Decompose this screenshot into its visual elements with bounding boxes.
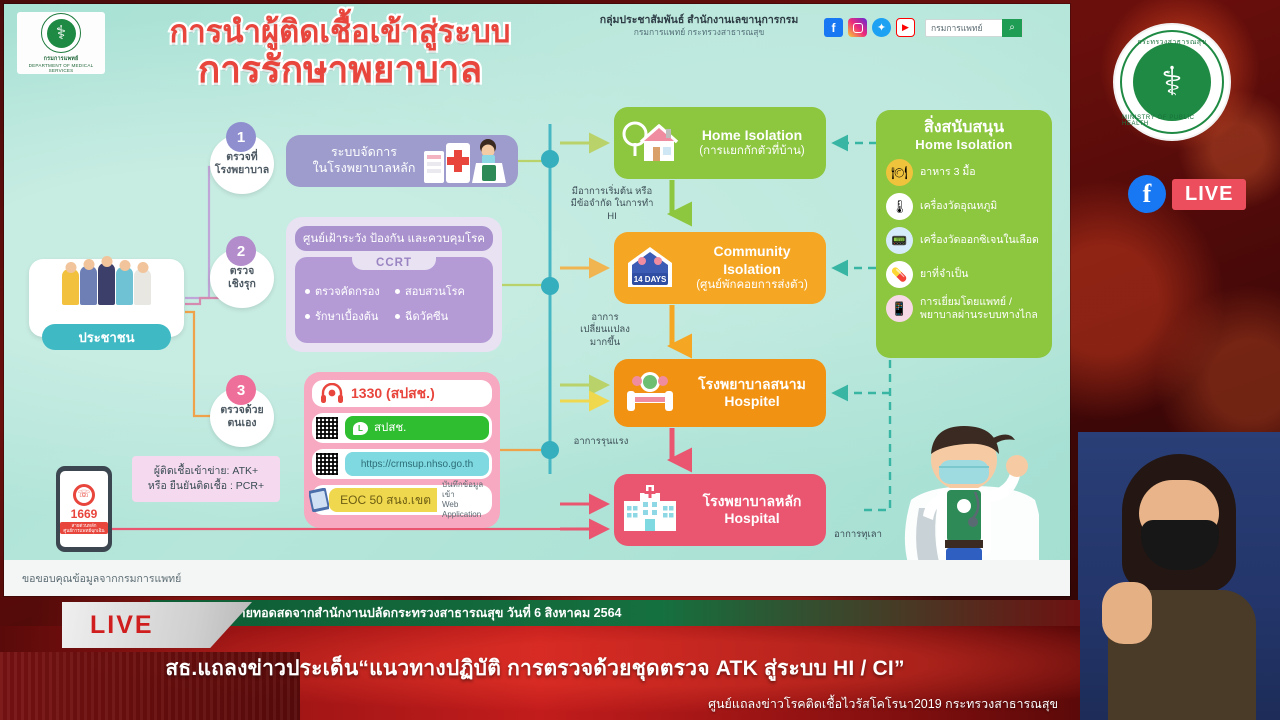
ticker-text: ถ่ายทอดสดจากสำนักงานปลัดกระทรวงสาธารณสุข… — [231, 603, 621, 623]
eoc-label: EOC 50 สนง.เขต — [329, 488, 437, 512]
eoc-note-line1: บันทึกข้อมูลเข้า — [442, 480, 489, 500]
support-title-en: Home Isolation — [886, 137, 1042, 152]
medicine-icon: 💊 — [886, 261, 913, 288]
presentation-slide: ⚕ กรมการแพทย์ DEPARTMENT OF MEDICAL SERV… — [4, 4, 1070, 596]
tablet-icon — [309, 488, 329, 512]
facebook-round-icon: f — [1128, 175, 1166, 213]
moph-emblem-top-text: กระทรวงสาธารณสุข — [1137, 37, 1206, 48]
hotline-number: 1330 (สปสช.) — [351, 383, 435, 405]
ccrt-item: ฉีดวัคซีน — [395, 307, 485, 325]
hospital-building-icon — [614, 485, 686, 535]
department-logo: ⚕ กรมการแพทย์ DEPARTMENT OF MEDICAL SERV… — [17, 12, 105, 74]
atk-criteria-note: ผู้ติดเชื้อเข้าข่าย: ATK+ หรือ ยืนยันติด… — [132, 456, 280, 502]
dms-seal-icon: ⚕ — [41, 13, 81, 53]
destination-hospitel: โรงพยาบาลสนาม Hospitel — [614, 359, 826, 427]
hospital-system-line1: ระบบจัดการ — [300, 145, 428, 161]
hospital-text: โรงพยาบาลหลัก Hospital — [686, 493, 826, 528]
facebook-icon[interactable]: f — [824, 18, 843, 37]
phone-caption: สายด่วนหลัก ศูนย์การแพทย์ฉุกเฉิน — [60, 522, 107, 535]
ticker-bar: ถ่ายทอดสดจากสำนักงานปลัดกระทรวงสาธารณสุข… — [150, 600, 1080, 626]
telemedicine-icon: 📱 — [886, 295, 913, 322]
ccrt-item: รักษาเบื้องต้น — [305, 307, 395, 325]
ccrt-header: ศูนย์เฝ้าระวัง ป้องกัน และควบคุมโรค — [295, 226, 493, 251]
step-3-line2: ตนเอง — [227, 417, 256, 430]
atk-note-line2: หรือ ยืนยันติดเชื้อ : PCR+ — [148, 479, 264, 494]
support-item: 🍽 อาหาร 3 มื้อ — [886, 159, 1042, 186]
community-house-icon: 14 DAYS — [614, 243, 686, 293]
hospitel-title: โรงพยาบาลสนาม — [686, 376, 818, 394]
qr-code-url-icon — [315, 452, 339, 476]
ccrt-body: CCRT ตรวจคัดกรอง สอบสวนโรค รักษาเบื้องต้… — [295, 257, 493, 343]
slide-title-line1: การนำผู้ติดเชื้อเข้าสู่ระบบ — [130, 16, 550, 49]
headset-icon — [320, 383, 344, 405]
community-isolation-text: Community Isolation (ศูนย์พักคอยการส่งตั… — [686, 243, 826, 293]
hotline-row: 1330 (สปสช.) — [312, 380, 492, 407]
ccrt-item: ตรวจคัดกรอง — [305, 282, 395, 300]
hospital-system-line2: ในโรงพยาบาลหลัก — [300, 161, 428, 177]
crm-url[interactable]: https://crmsup.nhso.go.th — [345, 452, 489, 476]
people-node: ประชาชน — [29, 259, 184, 337]
community-isolation-subtitle: (ศูนย์พักคอยการส่งตัว) — [686, 278, 818, 293]
org-line2: กรมการแพทย์ กระทรวงสาธารณสุข — [592, 27, 806, 38]
step-node-3: ตรวจด้วย ตนเอง 3 — [210, 375, 274, 439]
support-item-label: เครื่องวัดออกซิเจนในเลือด — [920, 234, 1039, 247]
slide-title-line2: การรักษาพยาบาล — [130, 50, 550, 89]
support-item: 💊 ยาที่จำเป็น — [886, 261, 1042, 288]
hospital-title: โรงพยาบาลหลัก — [686, 493, 818, 511]
step-2-line1: ตรวจ — [230, 265, 255, 278]
line-label: สปสช. — [374, 419, 406, 437]
support-item: 📱 การเยี่ยมโดยแพทย์ /พยาบาลผ่านระบบทางไก… — [886, 295, 1042, 322]
step-1-number: 1 — [226, 122, 256, 152]
eoc-note: บันทึกข้อมูลเข้า Web Application — [437, 480, 489, 520]
youtube-icon[interactable]: ▶ — [896, 18, 915, 37]
destination-home-isolation: Home Isolation (การแยกกักตัวที่บ้าน) — [614, 107, 826, 179]
home-isolation-text: Home Isolation (การแยกกักตัวที่บ้าน) — [686, 127, 826, 159]
dms-logo-english: DEPARTMENT OF MEDICAL SERVICES — [29, 63, 94, 73]
hospitel-text: โรงพยาบาลสนาม Hospitel — [686, 376, 826, 411]
destination-community-isolation: 14 DAYS Community Isolation (ศูนย์พักคอย… — [614, 232, 826, 304]
flow-label-to-hospitel: อาการ เปลี่ยนแปลง มากขึ้น — [572, 312, 638, 349]
headline-text: สธ.แถลงข่าวประเด็น“แนวทางปฏิบัติ การตรวจ… — [0, 652, 1070, 685]
step-3-line1: ตรวจด้วย — [220, 404, 263, 417]
live-tab-label: LIVE — [90, 611, 154, 640]
people-illustration-icon — [62, 265, 151, 305]
step-1-line2: โรงพยาบาล — [215, 164, 269, 177]
dms-logo-thai: กรมการแพทย์ — [17, 55, 105, 63]
facebook-live-badge: f LIVE — [1128, 175, 1246, 213]
step-2-number: 2 — [226, 236, 256, 266]
caduceus-icon: ⚕ — [1133, 43, 1211, 121]
support-item-label: อาหาร 3 มื้อ — [920, 166, 976, 179]
eoc-note-line2: Web Application — [442, 500, 489, 520]
eoc-row: EOC 50 สนง.เขต บันทึกข้อมูลเข้า Web Appl… — [312, 485, 492, 515]
org-line1: กลุ่มประชาสัมพันธ์ สำนักงานเลขานุการกรม — [592, 14, 806, 27]
phone-caption-line1: สายด่วนหลัก — [72, 523, 97, 528]
step-1-line1: ตรวจที่ — [226, 151, 257, 164]
svg-text:14 DAYS: 14 DAYS — [634, 275, 667, 284]
people-node-label: ประชาชน — [42, 324, 171, 350]
moph-emblem-ring: กระทรวงสาธารณสุข ⚕ MINISTRY OF PUBLIC HE… — [1120, 30, 1224, 134]
slide-canvas: ⚕ กรมการแพทย์ DEPARTMENT OF MEDICAL SERV… — [4, 4, 1070, 596]
phone-headset-icon: ☏ — [73, 484, 95, 506]
hospital-system-box: ระบบจัดการ ในโรงพยาบาลหลัก — [286, 135, 518, 187]
phone-screen: ☏ 1669 สายด่วนหลัก ศูนย์การแพทย์ฉุกเฉิน — [60, 471, 108, 547]
step-node-2: ตรวจ เชิงรุก 2 — [210, 236, 274, 300]
interpreter-signing-hand — [1102, 582, 1152, 644]
hospital-bed-icon — [614, 369, 686, 417]
food-icon: 🍽 — [886, 159, 913, 186]
support-item-label: ยาที่จำเป็น — [920, 268, 968, 281]
step-2-line2: เชิงรุก — [228, 278, 256, 291]
phone-caption-line2: ศูนย์การแพทย์ฉุกเฉิน — [63, 528, 104, 533]
self-test-box: 1330 (สปสช.) L สปสช. https://crmsup.nhso… — [304, 372, 500, 528]
hospital-system-text: ระบบจัดการ ในโรงพยาบาลหลัก — [300, 145, 428, 176]
dms-logo-caption: กรมการแพทย์ DEPARTMENT OF MEDICAL SERVIC… — [17, 55, 105, 73]
url-row: https://crmsup.nhso.go.th — [312, 449, 492, 479]
moph-emblem-bottom-text: MINISTRY OF PUBLIC HEALTH — [1122, 115, 1222, 127]
home-icon — [614, 117, 686, 169]
pharmacy-doctor-icon — [420, 137, 510, 185]
organization-credit: กลุ่มประชาสัมพันธ์ สำนักงานเลขานุการกรม … — [592, 14, 806, 38]
hospital-subtitle: Hospital — [686, 510, 818, 528]
qr-code-line-icon — [315, 416, 339, 440]
search-button[interactable]: ⌕ — [1002, 19, 1022, 37]
support-item: 📟 เครื่องวัดออกซิเจนในเลือด — [886, 227, 1042, 254]
phone-number-1669: 1669 — [71, 507, 98, 521]
hospitel-subtitle: Hospitel — [686, 393, 818, 411]
slide-title: การนำผู้ติดเชื้อเข้าสู่ระบบ การรักษาพยาบ… — [130, 16, 550, 89]
support-item-label: เครื่องวัดอุณหภูมิ — [920, 200, 997, 213]
ccrt-item: สอบสวนโรค — [395, 282, 485, 300]
support-item-label: การเยี่ยมโดยแพทย์ /พยาบาลผ่านระบบทางไกล — [920, 296, 1042, 322]
community-isolation-title: Community Isolation — [686, 243, 818, 278]
step-node-1: ตรวจที่ โรงพยาบาล 1 — [210, 122, 274, 186]
home-isolation-subtitle: (การแยกกักตัวที่บ้าน) — [686, 144, 818, 159]
destination-hospital: โรงพยาบาลหลัก Hospital — [614, 474, 826, 546]
oximeter-icon: 📟 — [886, 227, 913, 254]
fb-live-label: LIVE — [1172, 179, 1246, 210]
broadcast-screen: ⚕ กรมการแพทย์ DEPARTMENT OF MEDICAL SERV… — [0, 0, 1280, 720]
step-3-number: 3 — [226, 375, 256, 405]
sign-language-interpreter-panel — [1078, 432, 1280, 720]
line-app-icon: L — [353, 422, 368, 435]
ccrt-items: ตรวจคัดกรอง สอบสวนโรค รักษาเบื้องต้น ฉีด… — [295, 278, 493, 325]
search-box[interactable]: ⌕ — [925, 19, 1023, 37]
flow-label-to-ci: มีอาการเริ่มต้น หรือมีข้อจำกัด ในการทำ H… — [570, 186, 654, 223]
thermometer-icon: 🌡 — [886, 193, 913, 220]
support-item: 🌡 เครื่องวัดอุณหภูมิ — [886, 193, 1042, 220]
subline-text: ศูนย์แถลงข่าวโรคติดเชื้อไวรัสโคโรนา2019 … — [708, 694, 1058, 714]
ccrt-tag: CCRT — [352, 256, 436, 270]
twitter-icon[interactable]: ✦ — [872, 18, 891, 37]
lower-third: ถ่ายทอดสดจากสำนักงานปลัดกระทรวงสาธารณสุข… — [0, 600, 1080, 720]
line-pill: L สปสช. — [345, 416, 489, 440]
social-links[interactable]: f ✦ ▶ ⌕ — [824, 18, 1023, 37]
support-title-th: สิ่งสนับสนุน — [886, 119, 1042, 137]
search-input[interactable] — [926, 23, 1002, 33]
support-panel: สิ่งสนับสนุน Home Isolation 🍽 อาหาร 3 มื… — [876, 110, 1052, 358]
slide-footer-credit: ขอขอบคุณข้อมูลจากกรมการแพทย์ — [4, 560, 1070, 596]
line-row: L สปสช. — [312, 413, 492, 443]
ccrt-box: ศูนย์เฝ้าระวัง ป้องกัน และควบคุมโรค CCRT… — [286, 217, 502, 352]
atk-note-line1: ผู้ติดเชื้อเข้าข่าย: ATK+ — [154, 464, 258, 479]
moph-emblem: กระทรวงสาธารณสุข ⚕ MINISTRY OF PUBLIC HE… — [1113, 23, 1231, 141]
instagram-icon[interactable] — [848, 18, 867, 37]
emergency-phone-1669: ☏ 1669 สายด่วนหลัก ศูนย์การแพทย์ฉุกเฉิน — [56, 466, 112, 552]
flow-label-to-hospital: อาการรุนแรง — [570, 436, 632, 448]
flow-label-recover: อาการทุเลา — [828, 529, 888, 541]
home-isolation-title: Home Isolation — [686, 127, 818, 145]
